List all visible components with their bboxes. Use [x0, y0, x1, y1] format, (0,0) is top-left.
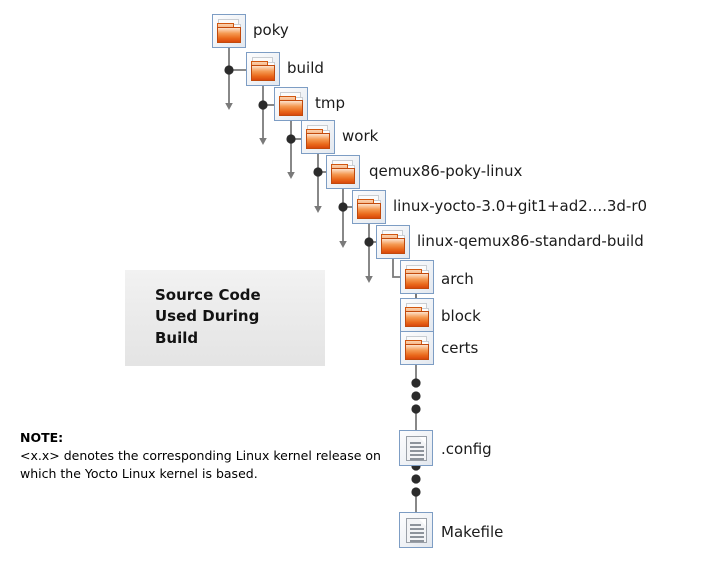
- note-body: <x.x> denotes the corresponding Linux ke…: [20, 447, 390, 483]
- folder-icon[interactable]: [376, 225, 410, 259]
- document-icon[interactable]: [399, 512, 433, 548]
- node-label-certs: certs: [441, 341, 478, 356]
- node-build[interactable]: [246, 52, 280, 86]
- ellipsis-dot: [411, 474, 420, 483]
- document-page: [406, 518, 427, 543]
- diagram-canvas: poky build tmp work: [0, 0, 705, 581]
- node-linux-qemux86-standard-build[interactable]: [376, 225, 410, 259]
- ellipsis-dot: [411, 404, 420, 413]
- node-label-linux-yocto: linux-yocto-3.0+git1+ad2....3d-r0: [393, 199, 647, 214]
- folder-front-body: [405, 273, 429, 289]
- node-label-makefile: Makefile: [441, 525, 503, 540]
- node-label-linux-qemux86-standard-build: linux-qemux86-standard-build: [417, 234, 644, 249]
- node-label-build: build: [287, 61, 324, 76]
- node-tmp[interactable]: [274, 87, 308, 121]
- folder-icon[interactable]: [400, 260, 434, 294]
- folder-front-body: [405, 311, 429, 327]
- node-work[interactable]: [301, 120, 335, 154]
- source-code-callout-box: Source Code Used During Build: [125, 270, 325, 366]
- node-poky[interactable]: [212, 14, 246, 48]
- junction-dot: [224, 65, 233, 74]
- node-block[interactable]: [400, 298, 434, 332]
- junction-dot: [338, 202, 347, 211]
- junction-dot: [286, 134, 295, 143]
- folder-icon[interactable]: [400, 298, 434, 332]
- folder-front-body: [331, 168, 355, 184]
- node-label-arch: arch: [441, 272, 474, 287]
- folder-front-body: [357, 203, 381, 219]
- node-label-qemux86-poky-linux: qemux86-poky-linux: [369, 164, 522, 179]
- ellipsis-dot: [411, 391, 420, 400]
- node-label-block: block: [441, 309, 481, 324]
- folder-icon[interactable]: [246, 52, 280, 86]
- folder-front-body: [381, 238, 405, 254]
- node-config[interactable]: [399, 430, 433, 466]
- node-label-poky: poky: [253, 23, 289, 38]
- ellipsis-dot: [411, 378, 420, 387]
- note-title: NOTE:: [20, 430, 390, 447]
- folder-icon[interactable]: [352, 190, 386, 224]
- folder-icon[interactable]: [326, 155, 360, 189]
- folder-front-body: [306, 133, 330, 149]
- folder-icon[interactable]: [274, 87, 308, 121]
- folder-icon[interactable]: [301, 120, 335, 154]
- node-certs[interactable]: [400, 331, 434, 365]
- folder-front-body: [217, 27, 241, 43]
- node-makefile[interactable]: [399, 512, 433, 548]
- node-linux-yocto[interactable]: [352, 190, 386, 224]
- folder-front-body: [251, 65, 275, 81]
- document-page: [406, 436, 427, 461]
- folder-icon[interactable]: [400, 331, 434, 365]
- folder-front-body: [405, 344, 429, 360]
- folder-front-body: [279, 100, 303, 116]
- junction-dot: [258, 100, 267, 109]
- node-qemux86-poky-linux[interactable]: [326, 155, 360, 189]
- source-code-callout-text: Source Code Used During Build: [155, 285, 261, 349]
- ellipsis-dot: [411, 487, 420, 496]
- node-label-config: .config: [441, 442, 492, 457]
- note-block: NOTE: <x.x> denotes the corresponding Li…: [20, 430, 390, 482]
- node-arch[interactable]: [400, 260, 434, 294]
- folder-icon[interactable]: [212, 14, 246, 48]
- junction-dot: [364, 237, 373, 246]
- connector-lines: [0, 0, 705, 581]
- junction-dot: [313, 167, 322, 176]
- node-label-work: work: [342, 129, 378, 144]
- document-icon[interactable]: [399, 430, 433, 466]
- node-label-tmp: tmp: [315, 96, 345, 111]
